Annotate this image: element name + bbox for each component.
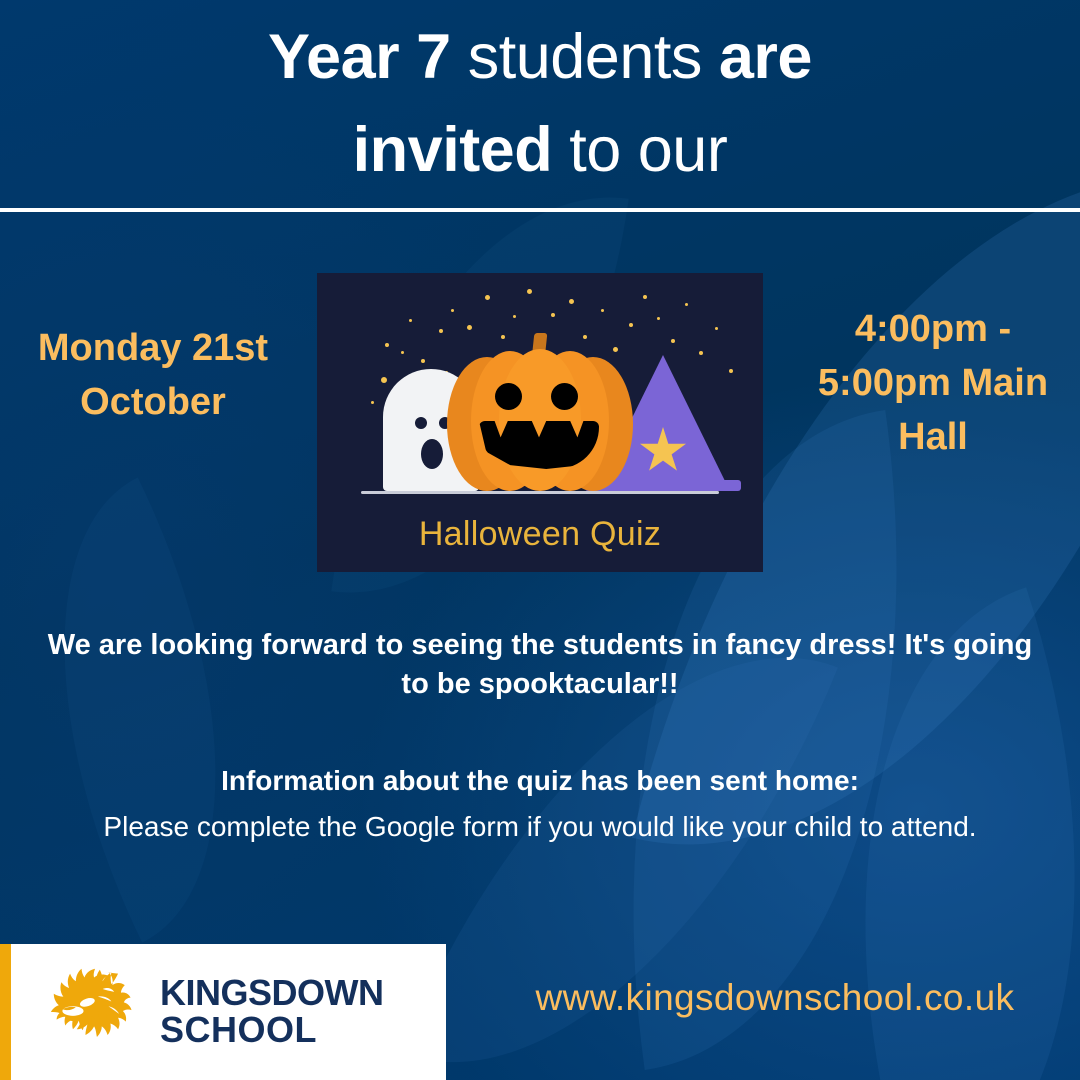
star-icon [551, 313, 555, 317]
headline-bold-are: are [719, 22, 812, 92]
star-icon [643, 295, 647, 299]
body-subtext: Please complete the Google form if you w… [40, 799, 1040, 845]
event-date: Monday 21st October [8, 322, 298, 430]
school-logo-text: KINGSDOWN SCHOOL [160, 975, 384, 1048]
star-icon [601, 309, 604, 312]
body-subhead-text: Information about the quiz has been sent… [40, 705, 1040, 799]
website-url[interactable]: www.kingsdownschool.co.uk [500, 977, 1050, 1019]
star-icon [409, 319, 412, 322]
quiz-caption: Halloween Quiz [317, 515, 763, 554]
headline-bold-year: Year 7 [268, 22, 451, 92]
ghost-mouth [421, 439, 443, 469]
logo-line-school: SCHOOL [160, 1012, 384, 1049]
page-title: Year 7 students are invited to our [268, 11, 812, 197]
poster-root: Year 7 students are invited to our Monda… [0, 0, 1080, 1080]
halloween-scene [317, 334, 763, 494]
star-icon [569, 299, 574, 304]
headline-bold-invited: invited [353, 115, 553, 185]
lion-head-icon [48, 964, 144, 1060]
star-icon [685, 303, 688, 306]
pumpkin-eye-right [551, 383, 578, 410]
pumpkin-icon [447, 349, 633, 491]
header-divider [0, 208, 1080, 212]
school-logo-card: KINGSDOWN SCHOOL [0, 944, 446, 1080]
star-icon [513, 315, 516, 318]
pumpkin-lobe [499, 349, 581, 491]
star-icon [657, 317, 660, 320]
logo-line-kingsdown: KINGSDOWN [160, 975, 384, 1012]
star-icon [451, 309, 454, 312]
star-icon [629, 323, 633, 327]
scene-ground-line [361, 491, 719, 494]
body-lead-text: We are looking forward to seeing the stu… [40, 626, 1040, 705]
ghost-eye-left [415, 417, 427, 429]
star-icon [467, 325, 472, 330]
star-icon [439, 329, 443, 333]
headline-regular-toour: to our [552, 115, 727, 185]
star-icon [715, 327, 718, 330]
logo-accent-bar [0, 944, 11, 1080]
pumpkin-eye-left [495, 383, 522, 410]
event-time-location: 4:00pm - 5:00pm Main Hall [800, 303, 1066, 465]
star-icon [485, 295, 490, 300]
body-copy: We are looking forward to seeing the stu… [40, 626, 1040, 846]
header-band: Year 7 students are invited to our [0, 0, 1080, 208]
star-icon [527, 289, 532, 294]
halloween-quiz-graphic: Halloween Quiz [317, 273, 763, 572]
headline-regular-students: students [451, 22, 719, 92]
